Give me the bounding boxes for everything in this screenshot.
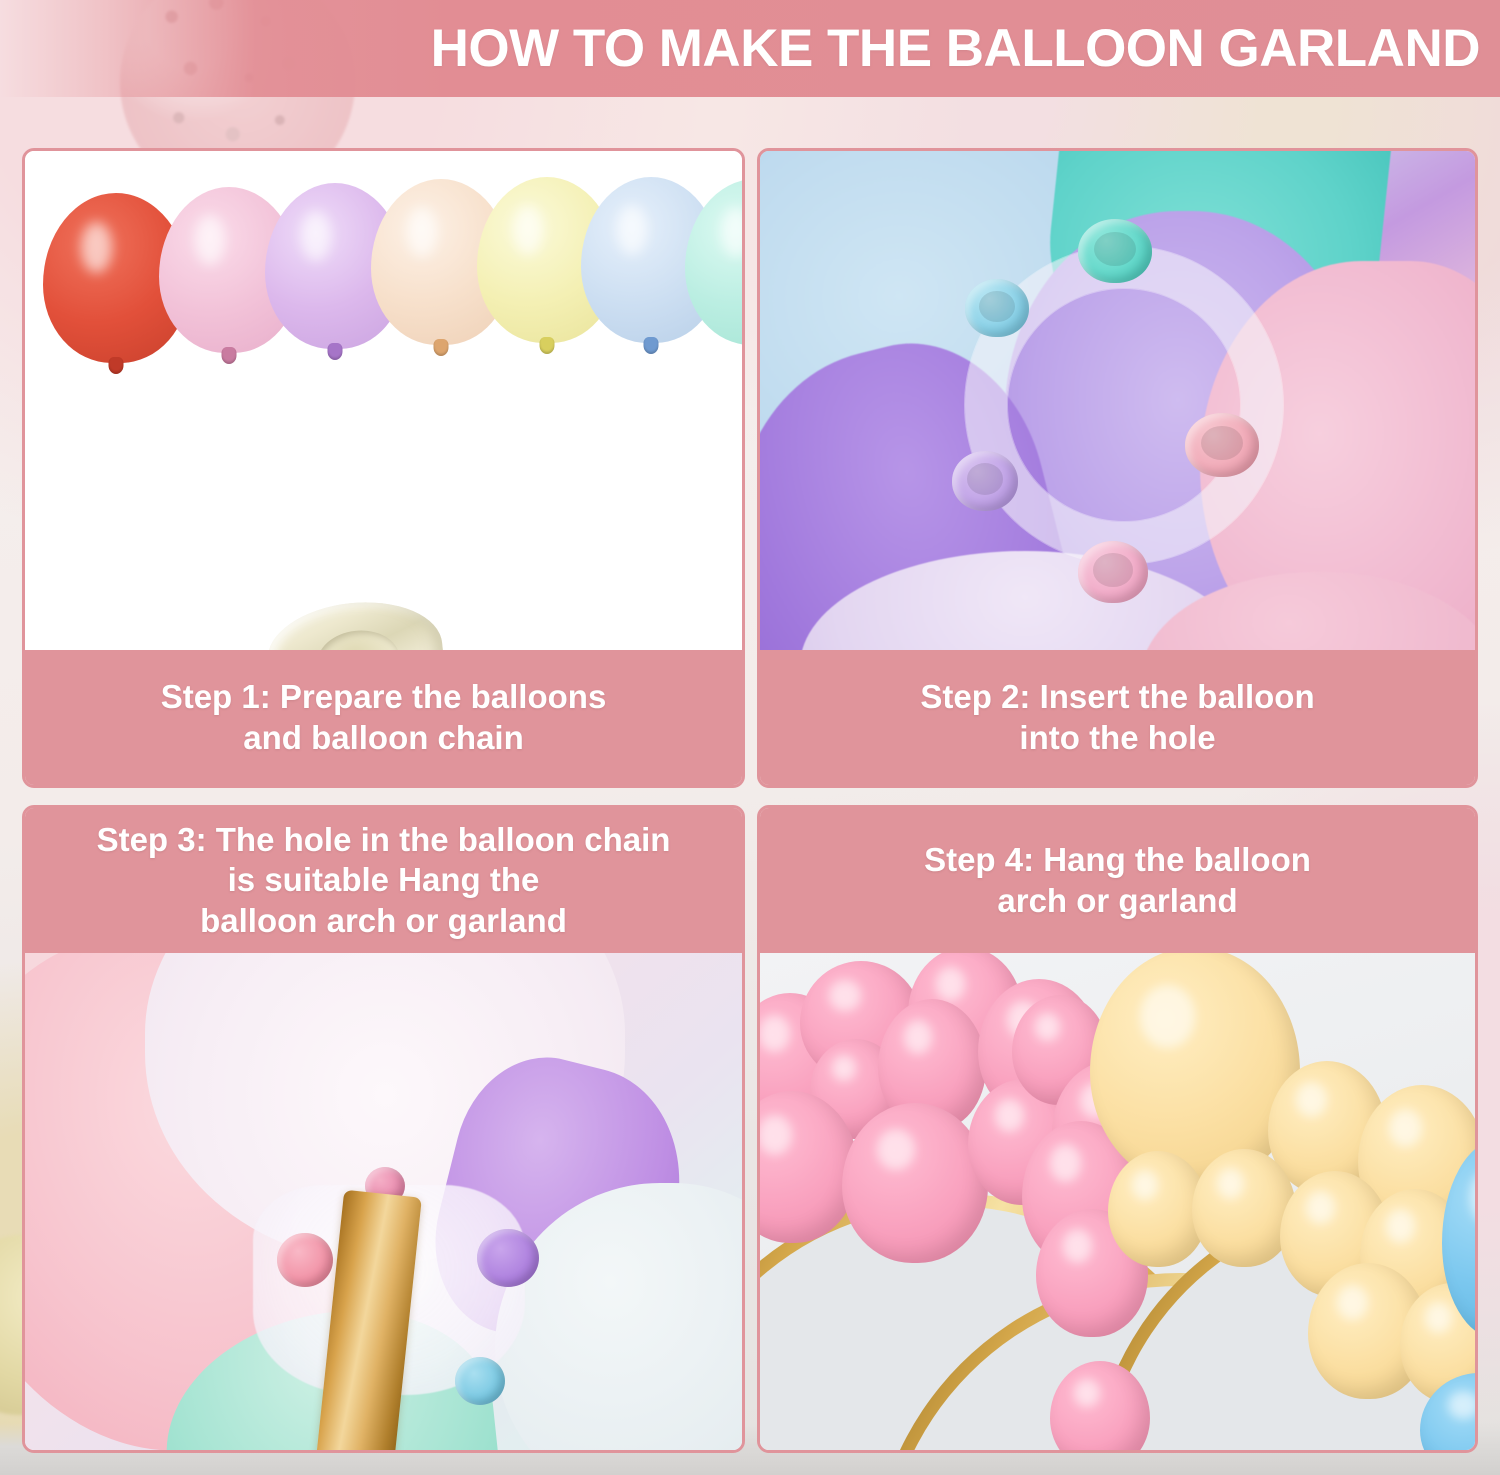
garland-balloon-pink — [842, 1103, 988, 1263]
step-1-caption-line-2: and balloon chain — [243, 718, 524, 758]
page-title: HOW TO MAKE THE BALLOON GARLAND — [431, 22, 1480, 75]
balloon-knot-rose — [277, 1233, 333, 1287]
balloon-knot-rose — [1078, 541, 1148, 603]
step-3-caption-line-2: is suitable Hang the — [228, 860, 540, 900]
balloon-row — [25, 151, 742, 650]
step-3-caption: Step 3: The hole in the balloon chain is… — [25, 808, 742, 953]
balloon-knot-blue — [455, 1357, 505, 1405]
step-4-caption-line-1: Step 4: Hang the balloon — [924, 840, 1311, 880]
step-2-caption-line-2: into the hole — [1019, 718, 1215, 758]
step-4-caption: Step 4: Hang the balloon arch or garland — [760, 808, 1475, 953]
balloon-knot-teal — [1078, 219, 1152, 283]
infographic-page: HOW TO MAKE THE BALLOON GARLAND Step 1: … — [0, 0, 1500, 1475]
balloon-knot-purple — [477, 1229, 539, 1287]
header-banner: HOW TO MAKE THE BALLOON GARLAND — [0, 0, 1500, 97]
balloon-knot-lilac — [952, 451, 1018, 511]
step-3-caption-line-1: Step 3: The hole in the balloon chain — [97, 820, 671, 860]
step-2-scene — [760, 151, 1475, 650]
garland-balloon-yellow — [1090, 953, 1300, 1187]
step-2-caption-line-1: Step 2: Insert the balloon — [920, 677, 1314, 717]
step-card-3: Step 3: The hole in the balloon chain is… — [22, 805, 745, 1453]
step-1-caption-line-1: Step 1: Prepare the balloons — [161, 677, 607, 717]
step-card-2: Step 2: Insert the balloon into the hole — [757, 148, 1478, 788]
step-card-1: Step 1: Prepare the balloons and balloon… — [22, 148, 745, 788]
balloon-knot-blue — [965, 279, 1029, 337]
step-4-scene — [760, 953, 1475, 1450]
step-2-caption: Step 2: Insert the balloon into the hole — [760, 650, 1475, 785]
step-2-photo — [760, 151, 1475, 650]
step-3-scene — [25, 953, 742, 1450]
step-3-photo — [25, 953, 742, 1450]
step-1-caption: Step 1: Prepare the balloons and balloon… — [25, 650, 742, 785]
step-4-caption-line-2: arch or garland — [997, 881, 1237, 921]
balloon-knot-pink — [1185, 413, 1259, 477]
step-1-photo — [25, 151, 742, 650]
step-3-caption-line-3: balloon arch or garland — [200, 901, 567, 941]
step-4-photo — [760, 953, 1475, 1450]
step-card-4: Step 4: Hang the balloon arch or garland — [757, 805, 1478, 1453]
